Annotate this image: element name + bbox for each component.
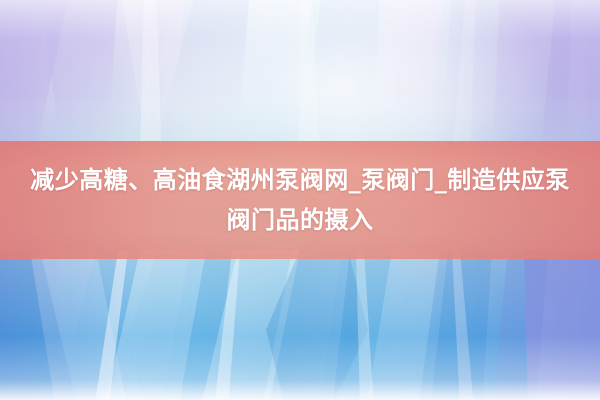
caption-band: 减少高糖、高油食湖州泵阀网_泵阀门_制造供应泵阀门品的摄入 xyxy=(0,141,600,259)
facet-group-bottom xyxy=(0,250,600,400)
banner-headline: 减少高糖、高油食湖州泵阀网_泵阀门_制造供应泵阀门品的摄入 xyxy=(22,160,578,240)
promo-banner: 减少高糖、高油食湖州泵阀网_泵阀门_制造供应泵阀门品的摄入 xyxy=(0,0,600,400)
